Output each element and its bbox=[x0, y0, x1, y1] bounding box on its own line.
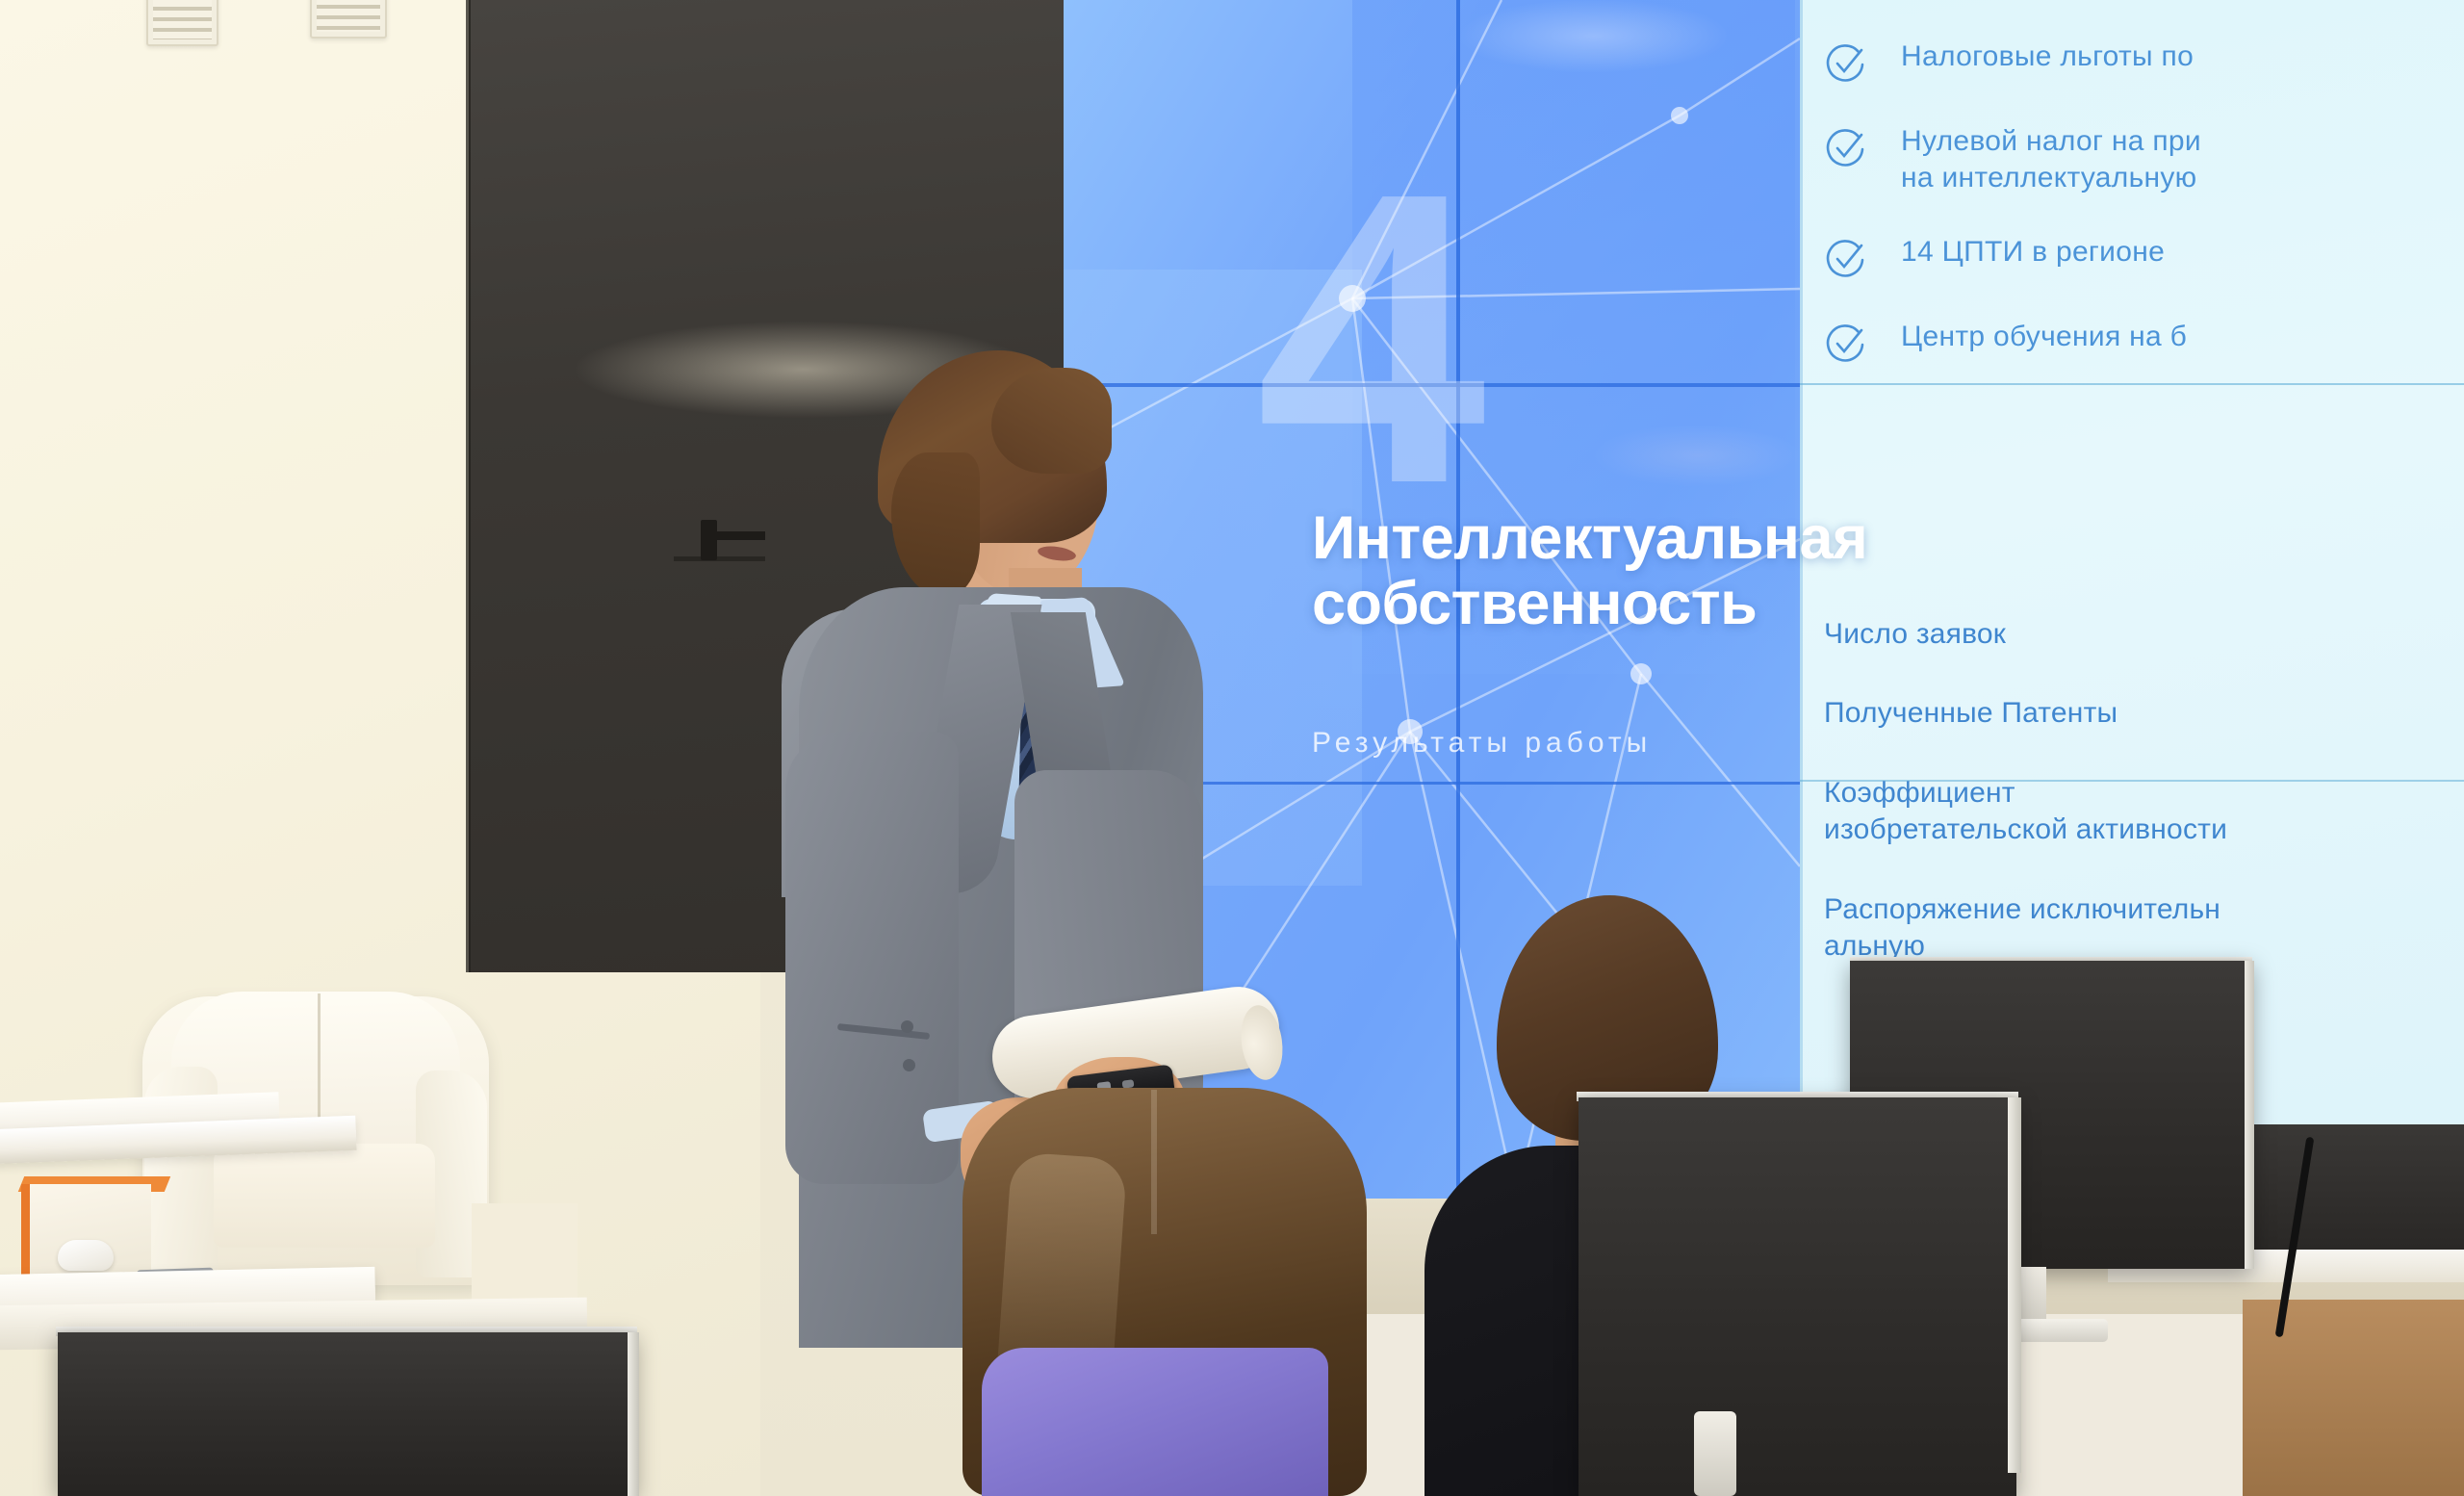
slide-subtitle: Результаты работы bbox=[1312, 727, 1812, 760]
computer-mouse[interactable] bbox=[58, 1240, 114, 1271]
suit-button bbox=[901, 1020, 913, 1033]
presentation-room-scene: 4 Интеллектуальная собственность Результ… bbox=[0, 0, 2464, 1496]
metric-row: Полученные Патенты bbox=[1824, 695, 2464, 732]
monitor-right-side-edge bbox=[2245, 961, 2254, 1269]
check-circle-icon bbox=[1824, 238, 1868, 282]
metric-row: Распоряжение исключительн альную bbox=[1824, 891, 2464, 966]
checklist-item-label: Налоговые льготы по bbox=[1901, 39, 2194, 75]
check-circle-icon bbox=[1824, 127, 1868, 171]
checklist-item-label: Центр обучения на б bbox=[1901, 319, 2187, 355]
monitor-left-back bbox=[58, 1332, 635, 1496]
monitor-left-side-edge bbox=[628, 1332, 639, 1496]
wall-shelf bbox=[674, 556, 765, 561]
checklist-item: 14 ЦПТИ в регионе bbox=[1824, 234, 2459, 282]
wall-bracket-plate bbox=[701, 520, 717, 560]
presenter-hair-side bbox=[891, 452, 980, 597]
checklist-item: Центр обучения на б bbox=[1824, 319, 2459, 367]
slide-metrics-list: Число заявок Полученные Патенты Коэффици… bbox=[1824, 616, 2464, 1007]
armchair-base bbox=[472, 1203, 577, 1309]
armchair-seat bbox=[214, 1144, 435, 1248]
ceiling-vent-right-icon bbox=[310, 0, 387, 39]
attendee-long-hair-garment bbox=[982, 1348, 1328, 1496]
check-circle-icon bbox=[1824, 42, 1868, 87]
ceiling-vent-left-icon bbox=[146, 0, 218, 46]
checklist-item: Нулевой налог на при на интеллектуальную bbox=[1824, 123, 2459, 197]
checklist-item: Налоговые льготы по bbox=[1824, 39, 2459, 87]
suit-button bbox=[903, 1059, 915, 1071]
monitor-center-side-edge bbox=[2008, 1097, 2021, 1473]
metric-row: Число заявок bbox=[1824, 616, 2464, 653]
dark-panel-edge bbox=[466, 0, 471, 972]
slide-section-number: 4 bbox=[1256, 173, 1469, 504]
monitor-center-back bbox=[1578, 1097, 2016, 1496]
checklist-item-label: 14 ЦПТИ в регионе bbox=[1901, 234, 2165, 271]
monitor-center-stand-neck bbox=[1694, 1411, 1736, 1496]
check-circle-icon bbox=[1824, 322, 1868, 367]
slide-checklist: Налоговые льготы по Нулевой налог на при… bbox=[1824, 39, 2459, 403]
checklist-item-label: Нулевой налог на при на интеллектуальную bbox=[1901, 123, 2201, 197]
metric-row: Коэффициент изобретательской активности bbox=[1824, 775, 2464, 849]
attendee-long-hair-part bbox=[1151, 1090, 1157, 1234]
